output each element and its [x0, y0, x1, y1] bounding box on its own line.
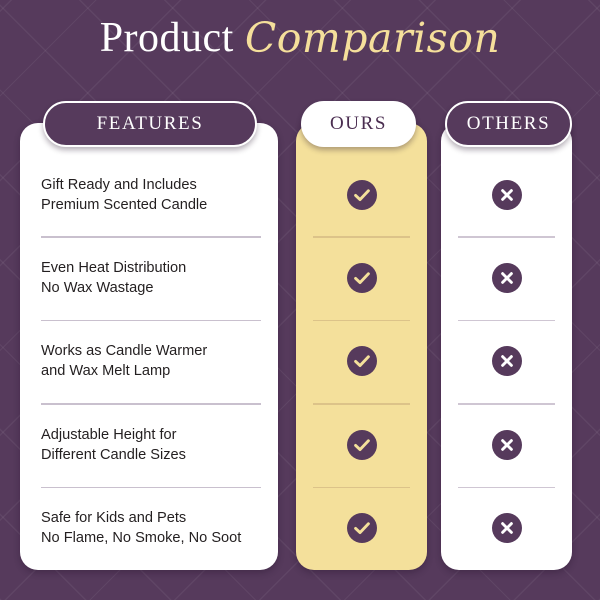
others-marks-list [441, 153, 572, 570]
feature-list: Gift Ready and Includes Premium Scented … [20, 153, 278, 570]
ours-cell [296, 487, 427, 570]
page-title: ProductComparison [0, 14, 600, 62]
others-cell [441, 487, 572, 570]
check-icon [347, 430, 377, 460]
product-comparison-infographic: ProductComparison FEATURES OURS OTHERS G… [0, 0, 600, 600]
features-column-header: FEATURES [43, 101, 257, 147]
table-row: Adjustable Height for Different Candle S… [20, 403, 278, 486]
title-main-word: Product [100, 15, 234, 61]
ours-cell [296, 236, 427, 319]
ours-header-label: OURS [330, 113, 387, 135]
feature-label: Gift Ready and Includes Premium Scented … [41, 175, 207, 215]
check-icon [347, 180, 377, 210]
ours-column-header: OURS [301, 101, 416, 147]
cross-icon [492, 180, 522, 210]
table-row: Safe for Kids and Pets No Flame, No Smok… [20, 487, 278, 570]
feature-label: Works as Candle Warmer and Wax Melt Lamp [41, 341, 207, 381]
others-cell [441, 403, 572, 486]
feature-label: Even Heat Distribution No Wax Wastage [41, 258, 186, 298]
others-header-label: OTHERS [467, 113, 551, 135]
cross-icon [492, 430, 522, 460]
others-cell [441, 236, 572, 319]
feature-label: Adjustable Height for Different Candle S… [41, 425, 186, 465]
check-icon [347, 513, 377, 543]
feature-label: Safe for Kids and Pets No Flame, No Smok… [41, 508, 241, 548]
cross-icon [492, 513, 522, 543]
table-row: Even Heat Distribution No Wax Wastage [20, 236, 278, 319]
table-row: Gift Ready and Includes Premium Scented … [20, 153, 278, 236]
check-icon [347, 263, 377, 293]
features-header-label: FEATURES [97, 113, 204, 135]
cross-icon [492, 263, 522, 293]
table-row: Works as Candle Warmer and Wax Melt Lamp [20, 320, 278, 403]
ours-cell [296, 153, 427, 236]
others-cell [441, 153, 572, 236]
others-column-header: OTHERS [445, 101, 572, 147]
title-accent-word: Comparison [245, 14, 500, 62]
ours-marks-list [296, 153, 427, 570]
cross-icon [492, 346, 522, 376]
others-cell [441, 320, 572, 403]
ours-cell [296, 403, 427, 486]
check-icon [347, 346, 377, 376]
ours-cell [296, 320, 427, 403]
